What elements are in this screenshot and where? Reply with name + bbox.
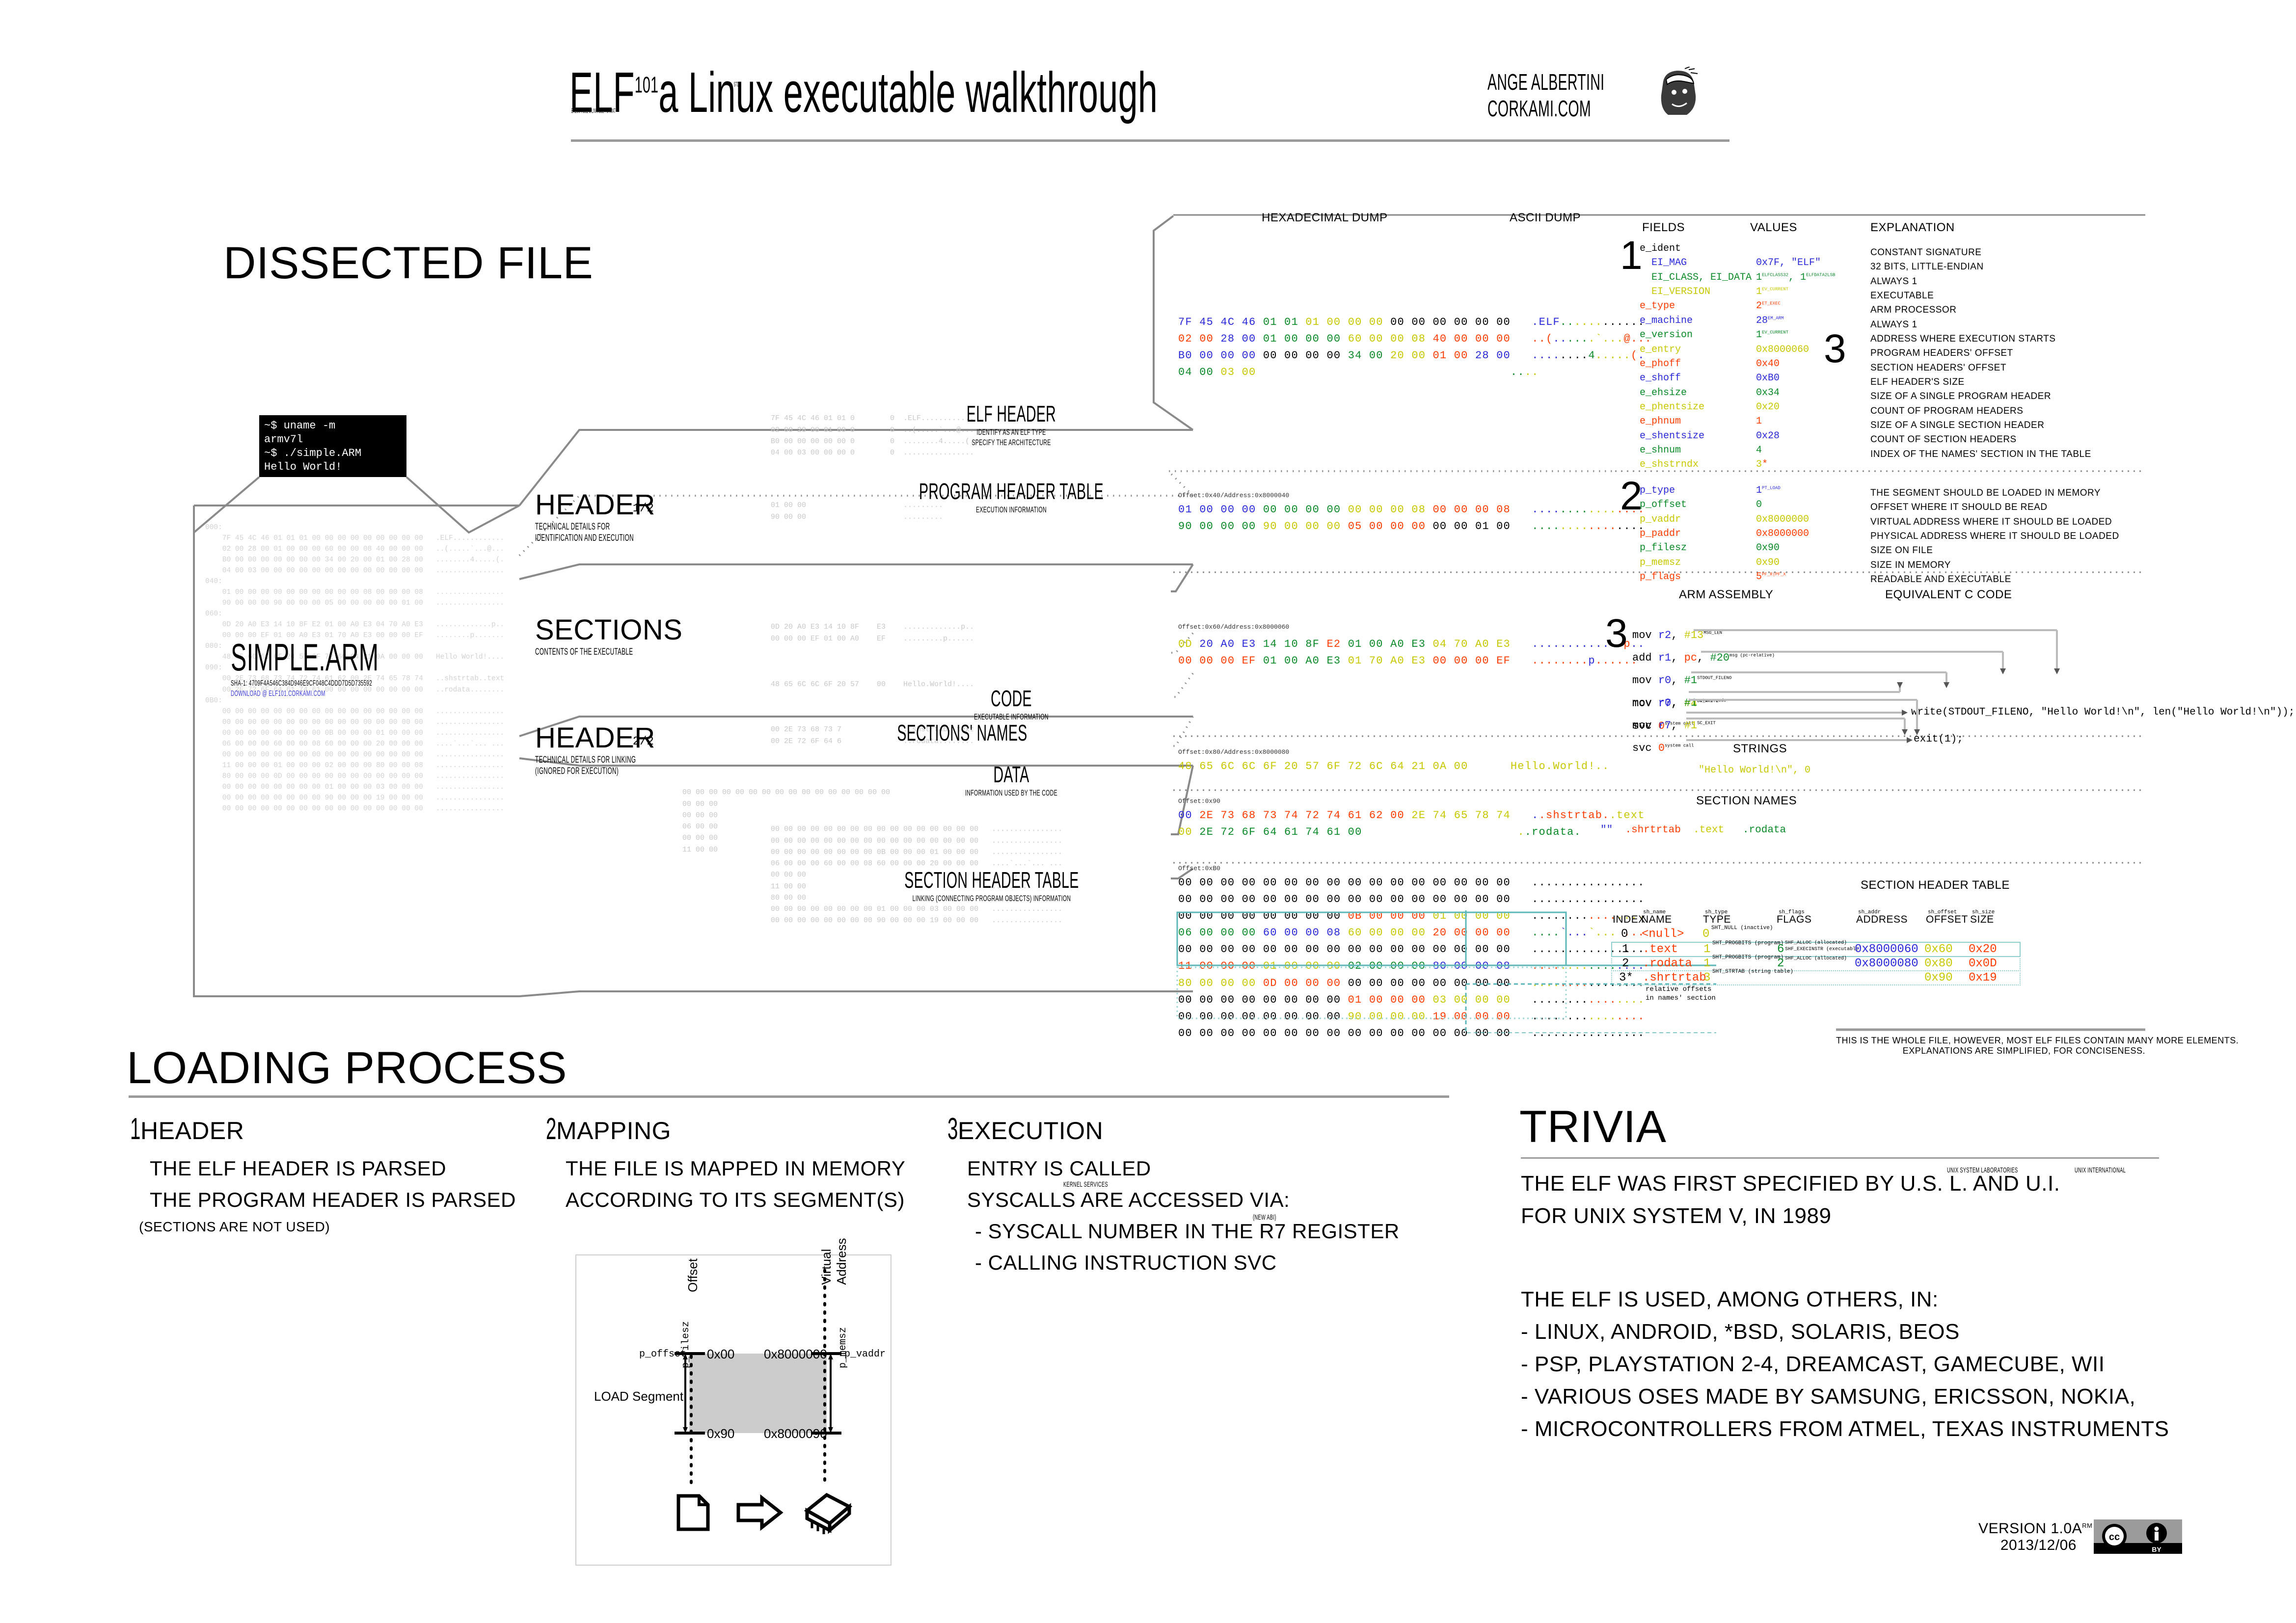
cell-type: 1 (1703, 943, 1710, 956)
section-heading-trivia: TRIVIA (1519, 1104, 1666, 1149)
cell-name: .text (1643, 943, 1678, 956)
band-superscript: 1/2 (633, 502, 654, 515)
svg-text:BY: BY (2152, 1545, 2161, 1553)
trivia-line: - MICROCONTROLLERS FROM ATMEL, TEXAS INS… (1521, 1417, 2169, 1441)
program-header-fields: p_type p_offset p_vaddr p_paddr p_filesz… (1640, 483, 1687, 585)
cell-type: 1 (1703, 957, 1710, 970)
disclaimer: THIS IS THE WHOLE FILE, HOWEVER, MOST EL… (1836, 1036, 2145, 1056)
table-row: 2 .rodata 1 SHT_PROGBITS (program) 2 SHF… (1611, 956, 2021, 971)
download-link[interactable]: DOWNLOAD @ ELF101.CORKAMI.COM (231, 690, 378, 698)
usl-note: UNIX SYSTEM LABORATORIES (1947, 1166, 2018, 1174)
step-line: THE PROGRAM HEADER IS PARSED (150, 1188, 516, 1211)
disclaimer-line: EXPLANATIONS ARE SIMPLIFIED, FOR CONCISE… (1903, 1046, 2145, 1056)
expl: PROGRAM HEADERS' OFFSET (1870, 348, 2013, 358)
name-rodata: .rodata (1743, 825, 1786, 836)
label-title: SECTION HEADER TABLE (858, 869, 1126, 891)
expl: SIZE OF A SINGLE PROGRAM HEADER (1870, 391, 2051, 401)
sht-heading: SECTION HEADER TABLE (1861, 878, 2010, 892)
p-memsz-label: p_memsz (837, 1327, 849, 1368)
cell-type-note: SHT_STRTAB (string table) (1712, 969, 1793, 975)
cell-index: 1 (1622, 943, 1629, 956)
cell-address: 0x8000060 (1855, 943, 1918, 956)
version-sup: RM (2082, 1522, 2092, 1529)
cc-license-badge: cc BY (2094, 1519, 2182, 1554)
cell-name: .shrtrtab (1643, 971, 1706, 984)
cell-name: .rodata (1643, 957, 1692, 970)
strings-hexdump: 48 65 6C 6C 6F 20 57 6F 72 6C 64 21 0A 0… (1178, 758, 1610, 775)
expl: PHYSICAL ADDRESS WHERE IT SHOULD BE LOAD… (1870, 531, 2119, 541)
expl: CONSTANT SIGNATURE (1870, 247, 1981, 258)
section-names-values: "" .shrtrtab .text .rodata (1600, 825, 1786, 836)
step-number: 1 (130, 1114, 141, 1144)
cell-type-note: SHT_PROGBITS (program) (1712, 940, 1783, 946)
label-sub: EXECUTION INFORMATION (887, 505, 1136, 515)
trivia-body: THE ELF WAS FIRST SPECIFIED BY U.S. L. A… (1521, 1173, 2169, 1451)
expl: ALWAYS 1 (1870, 276, 1918, 287)
program-header-explanations: THE SEGMENT SHOULD BE LOADED IN MEMORY O… (1870, 486, 2119, 586)
program-header-hexdump: 01 00 00 00 00 00 00 00 00 00 00 08 00 0… (1178, 502, 1645, 535)
cell-name: <null> (1642, 928, 1684, 941)
loading-step-2: 2MAPPING THE FILE IS MAPPED IN MEMORY AC… (546, 1114, 905, 1210)
program-header-offset: Offset:0x40/Address:0x8000040 (1178, 492, 1289, 499)
step-line: THE FILE IS MAPPED IN MEMORY (566, 1157, 905, 1180)
trivia-line: FOR UNIX SYSTEM V, IN 1989 (1521, 1204, 1831, 1228)
strings-offset: Offset:0x80/Address:0x8000080 (1178, 748, 1289, 756)
band-header-2: HEADER2/2 TECHNICAL DETAILS FOR LINKING … (535, 724, 698, 777)
band-subtitle: (IGNORED FOR EXECUTION) (535, 766, 636, 777)
expl: INDEX OF THE NAMES' SECTION IN THE TABLE (1870, 449, 2091, 459)
elf-header-explanations: CONSTANT SIGNATURE 32 BITS, LITTLE-ENDIA… (1870, 245, 2091, 461)
step-line: THE ELF HEADER IS PARSED (150, 1157, 446, 1180)
disclaimer-line: THIS IS THE WHOLE FILE, HOWEVER, MOST EL… (1836, 1036, 2239, 1045)
cell-index: 3* (1619, 971, 1633, 984)
c-code-heading: EQUIVALENT C CODE (1885, 588, 2012, 602)
section-names-heading: SECTION NAMES (1696, 794, 1797, 808)
step-marker-3-header: 3 (1824, 329, 1846, 369)
table-row: 1 .text 1 SHT_PROGBITS (program) 6 SHF_A… (1611, 942, 2021, 957)
name-shrtrtab: .shrtrtab (1625, 825, 1680, 836)
col-type: TYPE (1703, 914, 1731, 925)
syscalls-note: KERNEL SERVICES (1063, 1181, 1108, 1189)
file-start-value: 0x00 (707, 1347, 734, 1362)
mem-start-value: 0x8000000 (764, 1347, 827, 1362)
label-code: CODE EXECUTABLE INFORMATION (908, 687, 1114, 722)
cell-index: 2 (1622, 957, 1629, 970)
expl: ARM PROCESSOR (1870, 305, 1956, 315)
step-title: MAPPING (556, 1117, 671, 1144)
elf-header-fields: e_ident EI_MAG EI_CLASS, EI_DATA EI_VERS… (1640, 241, 1752, 472)
label-section-header-table: SECTION HEADER TABLE LINKING (CONNECTING… (776, 869, 1208, 904)
cell-type-note: SHT_NULL (inactive) (1711, 925, 1773, 931)
ui-note: UNIX INTERNATIONAL (2075, 1166, 2126, 1174)
cell-flags: 2 (1777, 957, 1784, 970)
cell-type: 0 (1702, 928, 1709, 941)
label-elf-header: ELF HEADER IDENTIFY AS AN ELF TYPE SPECI… (879, 402, 1144, 448)
expl: VIRTUAL ADDRESS WHERE IT SHOULD BE LOADE… (1870, 517, 2112, 527)
label-title: SECTIONS' NAMES (877, 721, 1047, 744)
label-title: PROGRAM HEADER TABLE (887, 480, 1136, 503)
band-superscript: 2/2 (633, 735, 654, 748)
code-offset: Offset:0x60/Address:0x8000060 (1178, 623, 1289, 631)
cell-flags: 6 (1777, 943, 1784, 956)
fields-column-header: FIELDS (1642, 221, 1685, 235)
file-sha1: SHA-1: 4709F4A546C384D946E9CF048C4DDD7D5… (231, 679, 378, 688)
strings-heading: STRINGS (1733, 742, 1787, 756)
asciidump-column-header: ASCII DUMP (1510, 211, 1581, 225)
trivia-line: - LINUX, ANDROID, *BSD, SOLARIS, BEOS (1521, 1320, 1960, 1344)
col-flags: FLAGS (1777, 914, 1811, 925)
p-vaddr-label: p_vaddr (844, 1349, 886, 1360)
load-segment-label: LOAD Segment (594, 1389, 683, 1404)
svg-text:cc: cc (2109, 1532, 2120, 1543)
band-title: SECTIONS (535, 614, 683, 646)
cell-offset: 0x60 (1924, 943, 1953, 956)
trivia-line: THE ELF WAS FIRST SPECIFIED BY U.S. L. A… (1521, 1171, 2060, 1196)
label-title: ELF HEADER (929, 402, 1094, 425)
flag-note: SHF_ALLOC (allocated) (1785, 940, 1847, 946)
band-subtitle: IDENTIFICATION AND EXECUTION (535, 533, 634, 544)
step-number: 2 (546, 1114, 557, 1144)
cell-flag-notes: SHF_ALLOC (allocated)SHF_EXECINSTR (exec… (1785, 940, 1862, 953)
step-line: ENTRY IS CALLED (967, 1157, 1151, 1180)
step-line: - CALLING INSTRUCTION SVC (975, 1251, 1277, 1274)
cell-size: 0x0D (1969, 957, 1997, 970)
cell-index: 0 (1621, 928, 1628, 941)
step-marker-3-asm: 3 (1605, 613, 1628, 654)
step-title: EXECUTION (958, 1117, 1103, 1144)
expl: COUNT OF PROGRAM HEADERS (1870, 406, 2023, 416)
label-sub: SPECIFY THE ARCHITECTURE (929, 437, 1094, 448)
flag-note: SHF_ALLOC (allocated) (1785, 956, 1847, 961)
offset-axis-label: Offset (685, 1258, 701, 1292)
band-header-1: HEADER1/2 TECHNICAL DETAILS FOR IDENTIFI… (535, 491, 694, 544)
step-number: 3 (947, 1114, 958, 1144)
expl: COUNT OF SECTION HEADERS (1870, 434, 2017, 445)
expl: OFFSET WHERE IT SHOULD BE READ (1870, 502, 2048, 512)
band-hex-faint: 00 00 00 00 00 00 00 00 00 00 00 00 00 0… (682, 775, 890, 855)
version-date: 2013/12/06 (2000, 1537, 2077, 1553)
cell-size: 0x20 (1969, 943, 1997, 956)
explanation-column-header: EXPLANATION (1870, 221, 1955, 235)
table-row: 0 <null> 0 SHT_NULL (inactive) (1611, 928, 2019, 940)
trivia-line: THE ELF IS USED, AMONG OTHERS, IN: (1521, 1287, 1939, 1311)
expl: EXECUTABLE (1870, 291, 1934, 301)
code-hexdump: 0D 20 A0 E3 14 10 8F E2 01 00 A0 E3 04 7… (1178, 636, 1645, 669)
expl: SIZE IN MEMORY (1870, 560, 1951, 570)
expl: 32 BITS, LITTLE-ENDIAN (1870, 262, 1984, 272)
col-name: NAME (1641, 914, 1672, 925)
expl: SECTION HEADERS' OFFSET (1870, 363, 2006, 373)
hexdump-column-header: HEXADECIMAL DUMP (1262, 211, 1387, 225)
expl: ALWAYS 1 (1870, 319, 1918, 330)
p-offset-label: p_offset (639, 1349, 686, 1360)
elf-header-hexdump: 7F 45 4C 46 01 01 01 00 00 00 00 00 00 0… (1178, 314, 1652, 381)
label-title: DATA (947, 763, 1075, 786)
trivia-line: - VARIOUS OSES MADE BY SAMSUNG, ERICSSON… (1521, 1384, 2135, 1409)
label-sections-names: SECTIONS' NAMES (825, 721, 1100, 744)
trivia-line: - PSP, PLAYSTATION 2-4, DREAMCAST, GAMEC… (1521, 1352, 2105, 1376)
step-line: SYSCALLS ARE ACCESSED VIA: (967, 1188, 1290, 1211)
band-subtitle: CONTENTS OF THE EXECUTABLE (535, 647, 633, 658)
p-filesz-label: p_filesz (680, 1321, 692, 1368)
step-title: HEADER (140, 1117, 244, 1144)
expl: THE SEGMENT SHOULD BE LOADED IN MEMORY (1870, 488, 2101, 498)
mapping-diagram: Offset Virtual Address p_offset p_vaddr … (575, 1254, 891, 1566)
label-sub: INFORMATION USED BY THE CODE (947, 788, 1075, 798)
band-sections: SECTIONS CONTENTS OF THE EXECUTABLE (535, 616, 693, 658)
cell-offset: 0x90 (1924, 971, 1953, 984)
expl: ELF HEADER'S SIZE (1870, 377, 1965, 387)
band-hex-faint: 0D 20 A0 E3 14 10 8F E3 .............p..… (771, 610, 974, 644)
section-names-offset: Offset:0x90 (1178, 798, 1220, 805)
sht-footnote: relative offsets in names' section (1646, 985, 1716, 1003)
program-header-values: 1PT_LOAD 0 0x8000000 0x8000000 0x90 0x90… (1756, 483, 1809, 585)
band-subtitle: TECHNICAL DETAILS FOR LINKING (535, 755, 636, 766)
cell-type: 3 (1703, 971, 1710, 984)
label-program-header-table: PROGRAM HEADER TABLE EXECUTION INFORMATI… (810, 480, 1213, 515)
abi-note: (NEW ABI) (1253, 1213, 1276, 1222)
label-title: CODE (947, 687, 1075, 710)
band-subtitle: TECHNICAL DETAILS FOR (535, 522, 634, 533)
strings-value: "Hello World!\n", 0 (1699, 765, 1810, 776)
loading-step-1: 1HEADER THE ELF HEADER IS PARSED THE PRO… (130, 1114, 516, 1234)
file-name-block: SIMPLE.ARM SHA-1: 4709F4A546C384D946E9CF… (231, 638, 469, 698)
cell-address: 0x8000080 (1855, 957, 1918, 970)
table-row: 3* .shrtrtab 3 SHT_STRTAB (string table)… (1611, 970, 2021, 985)
loading-process-divider (129, 1095, 1449, 1098)
cell-size: 0x19 (1969, 971, 1997, 984)
file-end-value: 0x90 (707, 1426, 734, 1441)
col-offset: OFFSET (1926, 914, 1968, 925)
expl: READABLE AND EXECUTABLE (1870, 574, 2011, 585)
cell-offset: 0x80 (1924, 957, 1953, 970)
arrow-right-icon (738, 1498, 781, 1527)
step-line: - SYSCALL NUMBER IN THE R7 REGISTER (975, 1220, 1400, 1243)
label-sub: LINKING (CONNECTING PROGRAM OBJECTS) INF… (858, 893, 1126, 904)
section-names-hexdump: 00 2E 73 68 73 74 72 74 61 62 00 2E 74 6… (1178, 807, 1645, 841)
sht-offset: Offset:0xB0 (1178, 865, 1220, 872)
expl: ADDRESS WHERE EXECUTION STARTS (1870, 334, 2055, 344)
step-line: ACCORDING TO ITS SEGMENT(S) (566, 1188, 905, 1211)
memory-chip-icon (807, 1495, 849, 1534)
name-text: .text (1693, 825, 1724, 836)
expl: SIZE ON FILE (1870, 545, 1933, 556)
section-heading-loading-process: LOADING PROCESS (127, 1045, 567, 1091)
file-icon (678, 1496, 708, 1529)
footer-version: VERSION 1.0ARM 2013/12/06 (1978, 1520, 2077, 1554)
c-code-line-2: exit(1); (1914, 734, 1963, 745)
label-data: DATA INFORMATION USED BY THE CODE (908, 763, 1114, 798)
col-size: SIZE (1970, 914, 1994, 925)
col-address: ADDRESS (1856, 914, 1908, 925)
trivia-divider (1521, 1157, 2159, 1159)
values-column-header: VALUES (1750, 221, 1797, 235)
flag-note: SHF_EXECINSTR (executable) (1785, 947, 1862, 952)
mem-end-value: 0x8000090 (764, 1426, 827, 1441)
asm-heading: ARM ASSEMBLY (1679, 588, 1773, 602)
col-index: INDEX (1613, 914, 1646, 925)
label-sub: IDENTIFY AS AN ELF TYPE (929, 427, 1094, 437)
vaddr-axis-label: Virtual Address (819, 1213, 849, 1285)
name-null: "" (1600, 825, 1613, 836)
step-note: (SECTIONS ARE NOT USED) (139, 1219, 330, 1234)
cell-type-note: SHT_PROGBITS (program) (1712, 955, 1783, 960)
expl: SIZE OF A SINGLE SECTION HEADER (1870, 420, 2044, 430)
version-label: VERSION 1.0A (1978, 1520, 2082, 1537)
loading-step-3: 3EXECUTION ENTRY IS CALLED SYSCALLS ARE … (947, 1114, 1400, 1273)
file-name: SIMPLE.ARM (231, 638, 378, 676)
